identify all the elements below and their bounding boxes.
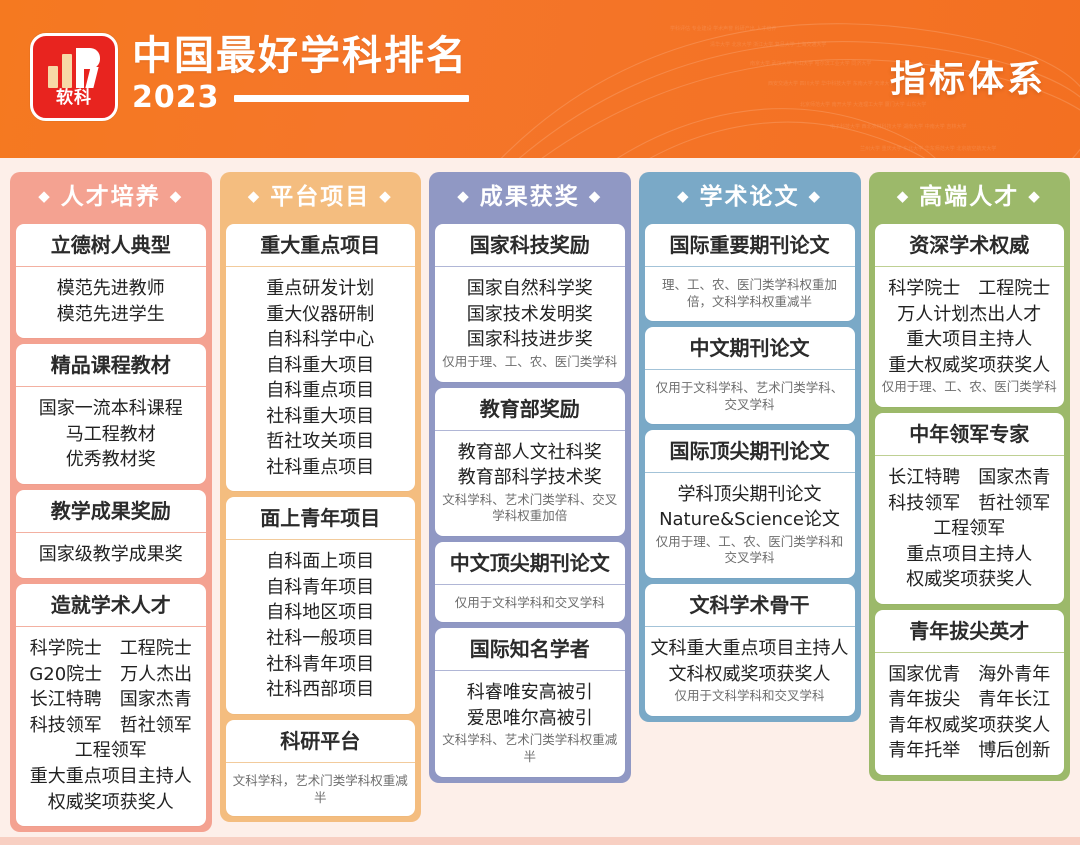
indicator-item: 文科重大重点项目主持人: [651, 636, 849, 662]
indicator-note: 仅用于理、工、农、医门类学科和交叉学科: [651, 534, 849, 568]
diamond-icon: ◆: [809, 187, 823, 205]
indicator-item: 工程领军: [881, 516, 1059, 542]
indicator-column-achievement-awards: ◆成果获奖◆国家科技奖励国家自然科学奖国家技术发明奖国家科技进步奖仅用于理、工、…: [429, 172, 631, 783]
column-title: ◆学术论文◆: [645, 178, 855, 218]
indicator-note: 仅用于文科学科和交叉学科: [651, 688, 849, 705]
svg-text:西安交通大学 四川大学 华中科技大学 东南大学 天津大学: 西安交通大学 四川大学 华中科技大学 东南大学 天津大学: [768, 80, 894, 87]
indicator-group-body: 科学院士 工程院士G20院士 万人杰出长江特聘 国家杰青科技领军 哲社领军工程领…: [16, 626, 206, 826]
column-title-label: 高端人才: [919, 184, 1019, 210]
indicator-group: 精品课程教材国家一流本科课程马工程教材优秀教材奖: [16, 344, 206, 484]
svg-text:兰州大学 重庆大学 东北大学 华东师范大学 北京航空航天大学: 兰州大学 重庆大学 东北大学 华东师范大学 北京航空航天大学: [860, 145, 996, 152]
indicator-note: 文科学科、艺术门类学科、交叉学科权重加倍: [441, 492, 619, 526]
indicator-item: 哲社攻关项目: [232, 429, 410, 455]
indicator-item: 社科西部项目: [232, 677, 410, 703]
ranking-bars-logo: 软科: [30, 33, 118, 121]
indicator-group: 国际重要期刊论文理、工、农、医门类学科权重加倍，文科学科权重减半: [645, 224, 855, 321]
logo-bars-icon: [48, 48, 100, 88]
indicator-item: 科学院士 工程院士: [22, 636, 200, 662]
indicator-item: 自科重大项目: [232, 353, 410, 379]
indicator-item: 自科青年项目: [232, 575, 410, 601]
indicator-group: 立德树人典型模范先进教师模范先进学生: [16, 224, 206, 338]
indicator-group-title: 国际重要期刊论文: [645, 224, 855, 266]
indicator-group-body: 文科学科，艺术门类学科权重减半: [226, 762, 416, 817]
indicator-group: 面上青年项目自科面上项目自科青年项目自科地区项目社科一般项目社科青年项目社科西部…: [226, 497, 416, 713]
footer-strip: [0, 837, 1080, 845]
indicator-item: 优秀教材奖: [22, 447, 200, 473]
indicator-group-body: 学科顶尖期刊论文Nature&Science论文仅用于理、工、农、医门类学科和交…: [645, 472, 855, 579]
indicator-item: 重大项目主持人: [881, 327, 1059, 353]
indicator-group-body: 国家级教学成果奖: [16, 532, 206, 579]
indicator-item: 社科一般项目: [232, 626, 410, 652]
indicator-group-body: 理、工、农、医门类学科权重加倍，文科学科权重减半: [645, 266, 855, 321]
column-title: ◆成果获奖◆: [435, 178, 625, 218]
svg-text:南京大学 武汉大学 中山大学 哈尔滨工业大学 同济大学: 南京大学 武汉大学 中山大学 哈尔滨工业大学 同济大学: [750, 60, 871, 67]
column-title-label: 成果获奖: [480, 184, 580, 210]
indicator-note: 仅用于理、工、农、医门类学科: [881, 379, 1059, 396]
indicator-group-title: 资深学术权威: [875, 224, 1065, 266]
indicator-item: 爱思唯尔高被引: [441, 706, 619, 732]
indicator-group-title: 造就学术人才: [16, 584, 206, 626]
indicator-item: 国家优青 海外青年: [881, 662, 1059, 688]
column-title: ◆人才培养◆: [16, 178, 206, 218]
indicator-note: 仅用于理、工、农、医门类学科: [441, 354, 619, 371]
indicator-group-body: 文科重大重点项目主持人文科权威奖项获奖人仅用于文科学科和交叉学科: [645, 626, 855, 716]
indicator-item: 文科权威奖项获奖人: [651, 662, 849, 688]
diamond-icon: ◆: [170, 187, 184, 205]
indicator-group: 中年领军专家长江特聘 国家杰青科技领军 哲社领军工程领军重点项目主持人权威奖项获…: [875, 413, 1065, 604]
indicator-group-title: 国家科技奖励: [435, 224, 625, 266]
indicator-item: 社科青年项目: [232, 652, 410, 678]
indicator-item: 学科顶尖期刊论文: [651, 482, 849, 508]
indicator-group: 科研平台文科学科，艺术门类学科权重减半: [226, 720, 416, 817]
indicator-item: Nature&Science论文: [651, 507, 849, 533]
indicator-group-title: 科研平台: [226, 720, 416, 762]
column-title: ◆高端人才◆: [875, 178, 1065, 218]
indicator-item: 科睿唯安高被引: [441, 680, 619, 706]
indicator-note: 仅用于文科学科和交叉学科: [441, 595, 619, 612]
indicator-group-body: 国家优青 海外青年青年拔尖 青年长江青年权威奖项获奖人青年托举 博后创新: [875, 652, 1065, 775]
indicator-group-title: 中文期刊论文: [645, 327, 855, 369]
indicator-column-platform-projects: ◆平台项目◆重大重点项目重点研发计划重大仪器研制自科科学中心自科重大项目自科重点…: [220, 172, 422, 822]
indicator-system-poster: 学科评估 专业建设 学术声誉 科研产出 人才培养 清华大学 北京大学 浙江大学 …: [0, 0, 1080, 845]
indicator-group: 重大重点项目重点研发计划重大仪器研制自科科学中心自科重大项目自科重点项目社科重大…: [226, 224, 416, 491]
indicator-item: 青年拔尖 青年长江: [881, 687, 1059, 713]
indicator-item: 国家一流本科课程: [22, 396, 200, 422]
page-header: 学科评估 专业建设 学术声誉 科研产出 人才培养 清华大学 北京大学 浙江大学 …: [0, 0, 1080, 158]
svg-text:清华大学 北京大学 浙江大学 复旦大学 上海交通大学: 清华大学 北京大学 浙江大学 复旦大学 上海交通大学: [710, 41, 826, 48]
indicator-item: 自科重点项目: [232, 378, 410, 404]
svg-text:学科评估 专业建设 学术声誉 科研产出 人才培养: 学科评估 专业建设 学术声誉 科研产出 人才培养: [670, 25, 776, 32]
indicator-note: 理、工、农、医门类学科权重加倍，文科学科权重减半: [651, 277, 849, 311]
column-title-label: 平台项目: [270, 184, 370, 210]
svg-text:电子科技大学 西北农林科技大学 湖南大学 中南大学 吉林大学: 电子科技大学 西北农林科技大学 湖南大学 中南大学 吉林大学: [830, 123, 966, 130]
indicator-item: G20院士 万人杰出: [22, 662, 200, 688]
indicator-group-body: 国家自然科学奖国家技术发明奖国家科技进步奖仅用于理、工、农、医门类学科: [435, 266, 625, 382]
indicator-item: 权威奖项获奖人: [22, 790, 200, 816]
indicator-group-title: 文科学术骨干: [645, 584, 855, 626]
indicator-item: 社科重点项目: [232, 455, 410, 481]
indicator-item: 科技领军 哲社领军: [881, 491, 1059, 517]
indicator-group: 青年拔尖英才国家优青 海外青年青年拔尖 青年长江青年权威奖项获奖人青年托举 博后…: [875, 610, 1065, 775]
svg-text:北京师范大学 南开大学 大连理工大学 厦门大学 山东大学: 北京师范大学 南开大学 大连理工大学 厦门大学 山东大学: [800, 101, 926, 108]
indicator-group-title: 立德树人典型: [16, 224, 206, 266]
indicator-item: 万人计划杰出人才: [881, 302, 1059, 328]
indicator-item: 自科面上项目: [232, 549, 410, 575]
indicator-item: 马工程教材: [22, 422, 200, 448]
indicator-board: ◆人才培养◆立德树人典型模范先进教师模范先进学生精品课程教材国家一流本科课程马工…: [0, 158, 1080, 845]
indicator-group-body: 自科面上项目自科青年项目自科地区项目社科一般项目社科青年项目社科西部项目: [226, 539, 416, 713]
indicator-item: 重大仪器研制: [232, 302, 410, 328]
indicator-column-academic-papers: ◆学术论文◆国际重要期刊论文理、工、农、医门类学科权重加倍，文科学科权重减半中文…: [639, 172, 861, 722]
indicator-item: 国家级教学成果奖: [22, 542, 200, 568]
indicator-group-body: 长江特聘 国家杰青科技领军 哲社领军工程领军重点项目主持人权威奖项获奖人: [875, 455, 1065, 604]
indicator-note: 仅用于文科学科、艺术门类学科、交叉学科: [651, 380, 849, 414]
indicator-item: 国家技术发明奖: [441, 302, 619, 328]
indicator-item: 模范先进教师: [22, 276, 200, 302]
indicator-group-body: 仅用于文科学科、艺术门类学科、交叉学科: [645, 369, 855, 424]
diamond-icon: ◆: [38, 187, 52, 205]
indicator-item: 国家科技进步奖: [441, 327, 619, 353]
indicator-group: 教学成果奖励国家级教学成果奖: [16, 490, 206, 579]
indicator-item: 长江特聘 国家杰青: [881, 465, 1059, 491]
indicator-note: 文科学科，艺术门类学科权重减半: [232, 773, 410, 807]
indicator-group: 国际顶尖期刊论文学科顶尖期刊论文Nature&Science论文仅用于理、工、农…: [645, 430, 855, 579]
diamond-icon: ◆: [589, 187, 603, 205]
indicator-group-title: 中年领军专家: [875, 413, 1065, 455]
indicator-group-title: 教育部奖励: [435, 388, 625, 430]
indicator-group-body: 重点研发计划重大仪器研制自科科学中心自科重大项目自科重点项目社科重大项目哲社攻关…: [226, 266, 416, 491]
indicator-group-title: 国际知名学者: [435, 628, 625, 670]
indicator-columns: ◆人才培养◆立德树人典型模范先进教师模范先进学生精品课程教材国家一流本科课程马工…: [10, 172, 1070, 833]
indicator-item: 重点研发计划: [232, 276, 410, 302]
indicator-group-body: 科睿唯安高被引爱思唯尔高被引文科学科、艺术门类学科权重减半: [435, 670, 625, 777]
indicator-group-body: 仅用于文科学科和交叉学科: [435, 584, 625, 622]
indicator-group-body: 模范先进教师模范先进学生: [16, 266, 206, 338]
indicator-item: 重大重点项目主持人: [22, 764, 200, 790]
indicator-item: 长江特聘 国家杰青: [22, 687, 200, 713]
indicator-item: 自科地区项目: [232, 600, 410, 626]
indicator-item: 自科科学中心: [232, 327, 410, 353]
indicator-item: 科技领军 哲社领军: [22, 713, 200, 739]
brand-logo: 软科 中国最好学科排名 2023: [30, 33, 469, 121]
indicator-item: 国家自然科学奖: [441, 276, 619, 302]
indicator-item: 青年权威奖项获奖人: [881, 713, 1059, 739]
indicator-item: 教育部科学技术奖: [441, 465, 619, 491]
diamond-icon: ◆: [897, 187, 911, 205]
diamond-icon: ◆: [457, 187, 471, 205]
indicator-column-talent-cultivation: ◆人才培养◆立德树人典型模范先进教师模范先进学生精品课程教材国家一流本科课程马工…: [10, 172, 212, 832]
indicator-item: 工程领军: [22, 738, 200, 764]
indicator-item: 社科重大项目: [232, 404, 410, 430]
column-title: ◆平台项目◆: [226, 178, 416, 218]
indicator-group-title: 重大重点项目: [226, 224, 416, 266]
column-title-label: 人才培养: [61, 184, 161, 210]
indicator-group-title: 面上青年项目: [226, 497, 416, 539]
indicator-group-title: 中文顶尖期刊论文: [435, 542, 625, 584]
diamond-icon: ◆: [248, 187, 262, 205]
indicator-group: 国际知名学者科睿唯安高被引爱思唯尔高被引文科学科、艺术门类学科权重减半: [435, 628, 625, 777]
indicator-group: 教育部奖励教育部人文社科奖教育部科学技术奖文科学科、艺术门类学科、交叉学科权重加…: [435, 388, 625, 537]
indicator-item: 教育部人文社科奖: [441, 440, 619, 466]
indicator-column-top-talents: ◆高端人才◆资深学术权威科学院士 工程院士万人计划杰出人才重大项目主持人重大权威…: [869, 172, 1071, 781]
indicator-note: 文科学科、艺术门类学科权重减半: [441, 732, 619, 766]
indicator-item: 权威奖项获奖人: [881, 567, 1059, 593]
indicator-group: 资深学术权威科学院士 工程院士万人计划杰出人才重大项目主持人重大权威奖项获奖人仅…: [875, 224, 1065, 407]
indicator-group-body: 国家一流本科课程马工程教材优秀教材奖: [16, 386, 206, 484]
title-rule: [234, 95, 469, 102]
indicator-group: 国家科技奖励国家自然科学奖国家技术发明奖国家科技进步奖仅用于理、工、农、医门类学…: [435, 224, 625, 382]
logo-text: 软科: [56, 90, 92, 107]
indicator-item: 重大权威奖项获奖人: [881, 353, 1059, 379]
indicator-group-title: 青年拔尖英才: [875, 610, 1065, 652]
indicator-group-title: 精品课程教材: [16, 344, 206, 386]
indicator-group-title: 教学成果奖励: [16, 490, 206, 532]
diamond-icon: ◆: [379, 187, 393, 205]
column-title-label: 学术论文: [700, 184, 800, 210]
diamond-icon: ◆: [677, 187, 691, 205]
indicator-group-body: 教育部人文社科奖教育部科学技术奖文科学科、艺术门类学科、交叉学科权重加倍: [435, 430, 625, 537]
indicator-item: 科学院士 工程院士: [881, 276, 1059, 302]
diamond-icon: ◆: [1028, 187, 1042, 205]
indicator-item: 重点项目主持人: [881, 542, 1059, 568]
indicator-group: 造就学术人才科学院士 工程院士G20院士 万人杰出长江特聘 国家杰青科技领军 哲…: [16, 584, 206, 826]
indicator-group: 文科学术骨干文科重大重点项目主持人文科权威奖项获奖人仅用于文科学科和交叉学科: [645, 584, 855, 716]
indicator-group-body: 科学院士 工程院士万人计划杰出人才重大项目主持人重大权威奖项获奖人仅用于理、工、…: [875, 266, 1065, 407]
edition-year: 2023: [132, 83, 220, 113]
page-title: 中国最好学科排名: [132, 35, 469, 77]
indicator-group: 中文期刊论文仅用于文科学科、艺术门类学科、交叉学科: [645, 327, 855, 424]
indicator-group: 中文顶尖期刊论文仅用于文科学科和交叉学科: [435, 542, 625, 622]
indicator-item: 青年托举 博后创新: [881, 738, 1059, 764]
indicator-group-title: 国际顶尖期刊论文: [645, 430, 855, 472]
indicator-item: 模范先进学生: [22, 302, 200, 328]
header-subtitle: 指标体系: [890, 50, 1046, 102]
